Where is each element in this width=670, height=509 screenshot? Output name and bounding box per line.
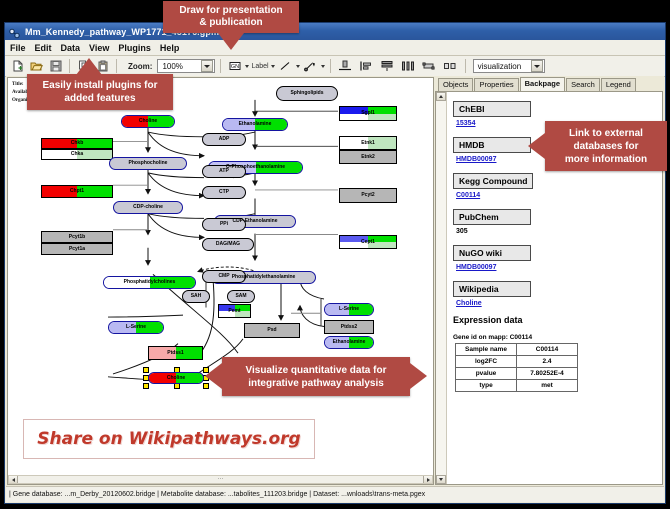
metabolite-node-cdp-choline[interactable]: CDP-choline: [113, 201, 183, 214]
callout-plugins-arrow: [76, 58, 102, 75]
callout-visualize-line1: Visualize quantitative data for: [246, 364, 387, 377]
line-icon[interactable]: [277, 58, 294, 75]
menu-help[interactable]: Help: [160, 43, 180, 53]
info-title-label: Title:: [12, 82, 24, 87]
node-label: CMP: [218, 274, 229, 279]
node-label: DAG/MAG: [216, 242, 240, 247]
side-panel-tabs: Objects Properties Backpage Search Legen…: [435, 77, 663, 91]
label-dropdown-icon[interactable]: [271, 65, 275, 68]
gene-node-pcyt2[interactable]: Pcyt2: [339, 188, 397, 203]
node-label: Pcyt1a: [69, 247, 85, 252]
node-label: L-Serine: [126, 325, 146, 330]
callout-link-line1: Link to external: [569, 127, 643, 140]
gene-node-chpt1[interactable]: Chpt1: [41, 185, 113, 198]
table-row: type met: [456, 380, 578, 392]
shape-dropdown-icon[interactable]: [321, 65, 325, 68]
node-label: Chkb: [71, 141, 84, 146]
gene-node-psd[interactable]: Psd: [244, 323, 300, 338]
datanode-tool[interactable]: GN: [226, 58, 249, 75]
row-label: log2FC: [456, 356, 517, 368]
db-header-wikipedia: Wikipedia: [453, 281, 531, 297]
callout-visualize: Visualize quantitative data for integrat…: [222, 357, 410, 396]
row-value: met: [517, 380, 578, 392]
db-header-chebi: ChEBI: [453, 101, 531, 117]
visualization-chevron-down-icon[interactable]: [531, 60, 543, 72]
chevron-down-icon[interactable]: [201, 60, 213, 72]
menu-file[interactable]: File: [10, 43, 26, 53]
scroll-down-icon[interactable]: [436, 475, 446, 484]
callout-share-text: Share on Wikipathways.org: [37, 429, 300, 449]
menu-data[interactable]: Data: [61, 43, 81, 53]
scroll-left-icon[interactable]: [9, 476, 18, 483]
label-tool-text: Label: [251, 63, 268, 70]
gene-node-pemt[interactable]: Pemt: [218, 304, 251, 318]
metabolite-node-sphingolipids[interactable]: Sphingolipids: [276, 86, 338, 101]
callout-draw-line2: & publication: [199, 17, 262, 29]
label-tool[interactable]: Label: [251, 63, 274, 70]
metabolite-node-ethanolamine[interactable]: Ethanolamine: [222, 118, 288, 131]
db-header-kegg-compound: Kegg Compound: [453, 173, 533, 189]
callout-draw-arrow: [218, 33, 244, 50]
table-row: Sample name C00114: [456, 344, 578, 356]
callout-visualize-line2: integrative pathway analysis: [248, 377, 384, 390]
row-label: type: [456, 380, 517, 392]
zoom-value: 100%: [162, 62, 182, 71]
screenshot-root: Mm_Kennedy_pathway_WP1771_45176.gpml Fil…: [0, 0, 670, 509]
table-row: pvalue 7.80252E-4: [456, 368, 578, 380]
node-label: SAM: [235, 294, 246, 299]
node-label: Etnk2: [361, 155, 375, 160]
group-icon[interactable]: [420, 58, 439, 75]
metabolite-node-ethanolamine-2[interactable]: Ethanolamine: [324, 336, 374, 349]
table-row: log2FC 2.4: [456, 356, 578, 368]
metabolite-node-phosphocholine[interactable]: Phosphocholine: [109, 157, 187, 170]
tab-legend[interactable]: Legend: [601, 78, 636, 91]
toolbar-separator-1: [69, 59, 70, 73]
callout-plugins-line2: added features: [64, 92, 135, 105]
visualization-combo[interactable]: visualization: [473, 59, 545, 73]
metabolite-node-l-serine-left[interactable]: L-Serine: [108, 321, 164, 334]
gene-id-on-mapp: Gene id on mapp: C00114: [453, 334, 656, 341]
node-label: Phosphocholine: [129, 161, 168, 166]
metabolite-node-choline-top[interactable]: Choline: [121, 115, 175, 128]
metabolite-node-l-serine-right[interactable]: L-Serine: [324, 303, 374, 316]
zoom-combo[interactable]: 100%: [157, 59, 215, 73]
tab-objects[interactable]: Objects: [438, 78, 473, 91]
status-bar: | Gene database: ...m_Derby_20120602.bri…: [6, 486, 664, 502]
handle-sw[interactable]: [143, 383, 149, 389]
gene-node-etnk2[interactable]: Etnk2: [339, 150, 397, 164]
gene-node-ptdss2[interactable]: Ptdss2: [324, 320, 374, 334]
node-label: Pcyt2: [361, 193, 374, 198]
callout-link-line2: databases for: [573, 140, 638, 153]
expression-data-heading: Expression data: [453, 315, 656, 325]
node-label: SAH: [191, 294, 202, 299]
db-header-nugo-wiki: NuGO wiki: [453, 245, 531, 261]
vscroll-track[interactable]: [436, 101, 446, 475]
gene-node-chkb[interactable]: Chkb: [41, 138, 113, 149]
gene-node-etnk1[interactable]: Etnk1: [339, 136, 397, 150]
db-value-pubchem: 305: [456, 228, 656, 235]
backpage-vscrollbar[interactable]: [436, 92, 447, 484]
node-label: Ptdss2: [341, 325, 357, 330]
node-label: Phosphatidylcholines: [124, 280, 176, 285]
menu-bar: File Edit Data View Plugins Help: [5, 40, 665, 56]
pathvisio-icon: [9, 26, 20, 37]
status-text: | Gene database: ...m_Derby_20120602.bri…: [9, 491, 425, 498]
gene-node-ptdss1[interactable]: Ptdss1: [148, 346, 203, 360]
node-label: Ethanolamine: [333, 340, 366, 345]
node-label: ATP: [219, 169, 229, 174]
svg-text:GN: GN: [231, 64, 239, 70]
metabolite-node-sam[interactable]: SAM: [227, 290, 255, 303]
line-dropdown-icon[interactable]: [296, 65, 300, 68]
tab-backpage[interactable]: Backpage: [520, 77, 565, 91]
new-file-icon[interactable]: [9, 58, 26, 75]
ungroup-icon[interactable]: [441, 58, 460, 75]
row-label: pvalue: [456, 368, 517, 380]
callout-visualize-arrow-right: [410, 363, 427, 389]
db-header-pubchem: PubChem: [453, 209, 531, 225]
callout-link-arrow: [528, 133, 545, 159]
arrow-shape-icon[interactable]: [302, 58, 319, 75]
callout-draw-line1: Draw for presentation: [179, 5, 282, 17]
metabolite-node-phosphatidylcholines[interactable]: Phosphatidylcholines: [103, 276, 196, 289]
canvas-hscrollbar[interactable]: ···: [8, 475, 433, 484]
db-link-wikipedia[interactable]: Choline: [456, 300, 656, 307]
metabolite-node-dagmag[interactable]: DAG/MAG: [202, 238, 254, 251]
line-tool[interactable]: [277, 58, 300, 75]
info-availability-label: Availab: [12, 90, 28, 95]
shape-tool[interactable]: [302, 58, 325, 75]
node-label: Etnk1: [361, 141, 375, 146]
node-label: Pemt: [228, 309, 240, 314]
gene-node-cept1[interactable]: Cept1: [339, 235, 397, 249]
toolbar-separator-5: [465, 59, 466, 73]
callout-visualize-arrow-left: [205, 363, 222, 389]
node-label: CTP: [219, 190, 229, 195]
node-label: Sphingolipids: [290, 91, 323, 96]
node-label: Ptdss1: [167, 351, 183, 356]
node-label: ADP: [219, 137, 230, 142]
callout-link-line3: more information: [565, 153, 647, 166]
datanode-icon[interactable]: GN: [226, 58, 243, 75]
node-label: Phosphatidylethanolamine: [232, 275, 296, 280]
node-label: Choline: [167, 376, 185, 381]
zoom-label: Zoom:: [128, 62, 152, 71]
open-folder-icon[interactable]: [28, 58, 45, 75]
metabolite-node-choline-selected[interactable]: Choline: [148, 372, 204, 384]
node-label: Sgpl1: [361, 111, 375, 116]
node-label: L-Serine: [339, 307, 359, 312]
node-label: Cept1: [361, 240, 375, 245]
db-link-kegg-compound[interactable]: C00114: [456, 192, 656, 199]
tab-search[interactable]: Search: [566, 78, 600, 91]
menu-view[interactable]: View: [89, 43, 109, 53]
node-label: CDP-Ethanolamine: [232, 219, 277, 224]
metabolite-node-ctp[interactable]: CTP: [202, 186, 246, 199]
toolbar-separator-2: [116, 59, 117, 73]
distribute-horizontal-icon[interactable]: [399, 58, 418, 75]
callout-draw: Draw for presentation & publication: [163, 1, 299, 33]
callout-plugins-line1: Easily install plugins for: [42, 79, 157, 92]
visualization-value: visualization: [478, 62, 522, 71]
toolbar-separator-3: [220, 59, 221, 73]
gene-node-pcyt1b[interactable]: Pcyt1b: [41, 231, 113, 243]
node-label: CDP-choline: [133, 205, 163, 210]
distribute-vertical-icon[interactable]: [378, 58, 397, 75]
row-value: C00114: [517, 344, 578, 356]
gene-node-sgpl1[interactable]: Sgpl1: [339, 106, 397, 121]
align-left-icon[interactable]: [357, 58, 376, 75]
node-label: PPi: [220, 222, 228, 227]
menu-edit[interactable]: Edit: [35, 43, 52, 53]
metabolite-node-sah[interactable]: SAH: [182, 290, 210, 303]
menu-plugins[interactable]: Plugins: [118, 43, 151, 53]
node-label: Ethanolamine: [239, 122, 272, 127]
metabolite-node-adp[interactable]: ADP: [202, 133, 246, 146]
callout-link: Link to external databases for more info…: [545, 121, 667, 171]
node-label: Chpt1: [70, 189, 84, 194]
scroll-up-icon[interactable]: [436, 92, 446, 101]
row-value: 7.80252E-4: [517, 368, 578, 380]
toolbar-separator-4: [330, 59, 331, 73]
callout-plugins: Easily install plugins for added feature…: [27, 74, 173, 110]
row-value: 2.4: [517, 356, 578, 368]
node-label: Pcyt1b: [69, 235, 85, 240]
db-link-nugo-wiki[interactable]: HMDB00097: [456, 264, 656, 271]
title-bar: Mm_Kennedy_pathway_WP1771_45176.gpml: [5, 23, 665, 40]
hscroll-track[interactable]: ···: [18, 476, 423, 483]
scroll-right-icon[interactable]: [423, 476, 432, 483]
db-header-hmdb: HMDB: [453, 137, 531, 153]
tab-properties[interactable]: Properties: [474, 78, 518, 91]
node-label: Chka: [71, 152, 83, 157]
node-label: Psd: [267, 328, 276, 333]
gene-node-chka[interactable]: Chka: [41, 149, 113, 160]
node-label: Choline: [139, 119, 157, 124]
expression-table: Sample name C00114 log2FC 2.4 pvalue 7.8…: [455, 343, 578, 392]
callout-share: Share on Wikipathways.org: [23, 419, 315, 459]
gene-node-pcyt1a[interactable]: Pcyt1a: [41, 243, 113, 255]
row-label: Sample name: [456, 344, 517, 356]
save-icon[interactable]: [47, 58, 64, 75]
datanode-dropdown-icon[interactable]: [245, 65, 249, 68]
node-label: O-Phosphoethanolamine: [226, 165, 285, 170]
align-bottom-icon[interactable]: [336, 58, 355, 75]
